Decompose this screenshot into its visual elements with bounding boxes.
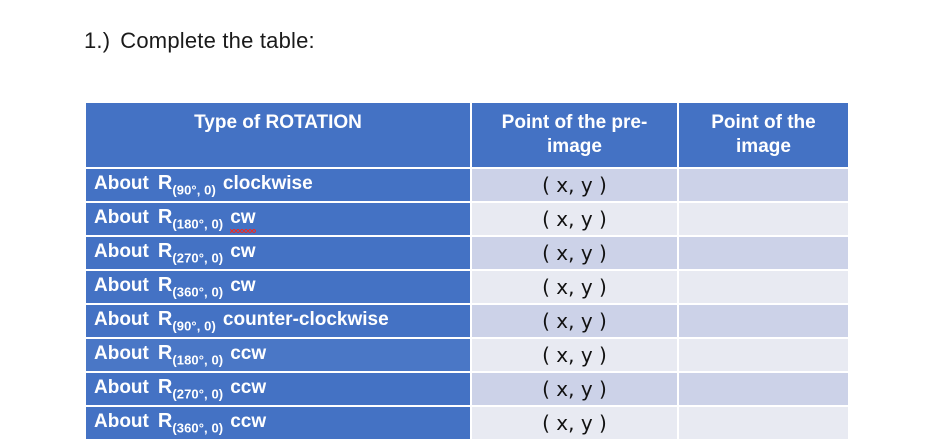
rotation-base-symbol: R [158,206,172,228]
image-point-answer-cell[interactable] [679,271,848,303]
table-row: AboutR(180°, 0)cw( x, y ) [86,203,848,235]
about-label: About [94,343,149,364]
preimage-point-cell[interactable]: ( x, y ) [472,407,677,439]
table-row: AboutR(360°, 0)cw( x, y ) [86,271,848,303]
rotation-direction: ccw [230,343,266,364]
table-row: AboutR(90°, 0)counter-clockwise( x, y ) [86,305,848,337]
rotation-label-cell: AboutR(270°, 0)cw [86,237,470,269]
rotation-subscript: (360°, 0) [172,285,223,300]
about-label: About [94,411,149,432]
rotation-label-cell: AboutR(90°, 0)counter-clockwise [86,305,470,337]
rotation-subscript: (180°, 0) [172,353,223,368]
rotation-base-symbol: R [158,376,172,398]
rotation-label-cell: AboutR(270°, 0)ccw [86,373,470,405]
preimage-point-cell[interactable]: ( x, y ) [472,373,677,405]
table-body: AboutR(90°, 0)clockwise( x, y )AboutR(18… [86,169,848,439]
rotation-direction: ccw [230,411,266,432]
rotation-base-symbol: R [158,308,172,330]
column-header-point-of-preimage: Point of the pre-image [472,103,677,167]
rotation-base-symbol: R [158,410,172,432]
column-header-type-of-rotation: Type of ROTATION [86,103,470,167]
table-row: AboutR(360°, 0)ccw( x, y ) [86,407,848,439]
table-header-row: Type of ROTATION Point of the pre-image … [86,103,848,167]
rotation-subscript: (270°, 0) [172,251,223,266]
image-point-answer-cell[interactable] [679,169,848,201]
rotation-direction: ccw [230,377,266,398]
preimage-point-cell[interactable]: ( x, y ) [472,339,677,371]
about-label: About [94,173,149,194]
image-point-answer-cell[interactable] [679,373,848,405]
rotation-subscript: (270°, 0) [172,387,223,402]
table-row: AboutR(90°, 0)clockwise( x, y ) [86,169,848,201]
rotation-subscript: (180°, 0) [172,217,223,232]
prompt-text: Complete the table: [120,28,315,53]
about-label: About [94,207,149,228]
rotation-label-cell: AboutR(180°, 0)ccw [86,339,470,371]
about-label: About [94,377,149,398]
rotation-subscript: (90°, 0) [172,319,216,334]
table-header: Type of ROTATION Point of the pre-image … [86,103,848,167]
rotation-base-symbol: R [158,274,172,296]
table-row: AboutR(270°, 0)cw( x, y ) [86,237,848,269]
about-label: About [94,241,149,262]
rotation-direction: cw [230,275,255,296]
table-row: AboutR(270°, 0)ccw( x, y ) [86,373,848,405]
rotation-table-container: Type of ROTATION Point of the pre-image … [84,101,846,441]
rotation-notation: R(270°, 0) [158,240,223,265]
rotation-base-symbol: R [158,172,172,194]
image-point-answer-cell[interactable] [679,203,848,235]
rotation-base-symbol: R [158,240,172,262]
preimage-point-cell[interactable]: ( x, y ) [472,237,677,269]
rotation-direction: counter-clockwise [223,309,389,330]
about-label: About [94,309,149,330]
preimage-point-cell[interactable]: ( x, y ) [472,305,677,337]
rotation-notation: R(90°, 0) [158,172,216,197]
rotation-notation: R(180°, 0) [158,206,223,231]
about-label: About [94,275,149,296]
rotation-subscript: (90°, 0) [172,183,216,198]
image-point-answer-cell[interactable] [679,237,848,269]
rotation-direction: cw [230,241,255,262]
column-header-point-of-image: Point of the image [679,103,848,167]
page-title: 1.)Complete the table: [84,28,315,54]
rotation-notation: R(180°, 0) [158,342,223,367]
rotation-table: Type of ROTATION Point of the pre-image … [84,101,850,441]
rotation-notation: R(270°, 0) [158,376,223,401]
table-row: AboutR(180°, 0)ccw( x, y ) [86,339,848,371]
rotation-label-cell: AboutR(90°, 0)clockwise [86,169,470,201]
rotation-notation: R(90°, 0) [158,308,216,333]
rotation-direction: clockwise [223,173,313,194]
rotation-label-cell: AboutR(180°, 0)cw [86,203,470,235]
rotation-direction-misspelled: cw [230,207,255,229]
rotation-notation: R(360°, 0) [158,410,223,435]
image-point-answer-cell[interactable] [679,305,848,337]
prompt-number: 1.) [84,28,110,53]
preimage-point-cell[interactable]: ( x, y ) [472,169,677,201]
preimage-point-cell[interactable]: ( x, y ) [472,271,677,303]
rotation-label-cell: AboutR(360°, 0)cw [86,271,470,303]
image-point-answer-cell[interactable] [679,339,848,371]
preimage-point-cell[interactable]: ( x, y ) [472,203,677,235]
rotation-label-cell: AboutR(360°, 0)ccw [86,407,470,439]
rotation-subscript: (360°, 0) [172,421,223,436]
image-point-answer-cell[interactable] [679,407,848,439]
rotation-base-symbol: R [158,342,172,364]
rotation-notation: R(360°, 0) [158,274,223,299]
